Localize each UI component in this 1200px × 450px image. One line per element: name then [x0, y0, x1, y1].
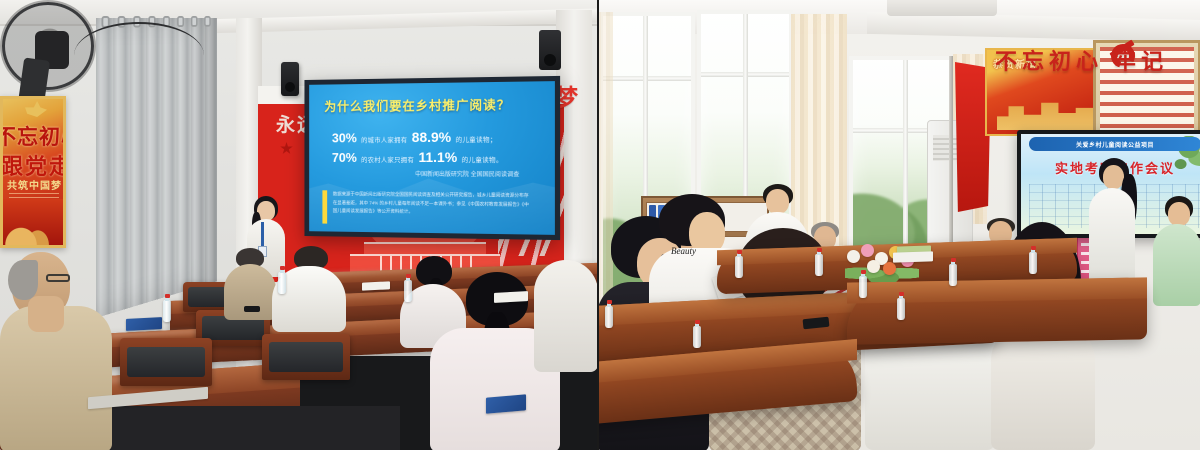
- water-bottle: [735, 256, 743, 278]
- wall-slogan: 不忘初心 牢记: [995, 44, 1168, 76]
- curtain-ring: [191, 16, 198, 27]
- photo-right-inspection-meeting: 恭贺新禧 不忘初心 牢记 关爱乡村儿童阅读公益项目 实地考察工作会议: [597, 0, 1200, 450]
- audience-person-right-edge: [534, 250, 597, 372]
- bottle-cap: [899, 292, 904, 296]
- slide-stat2-value: 11.1%: [418, 149, 457, 165]
- slide-stat2-pct: 70%: [332, 150, 357, 165]
- star-icon: [280, 142, 293, 155]
- flower: [867, 260, 880, 273]
- papers: [494, 291, 528, 303]
- window-mullion: [903, 56, 908, 256]
- bottle-cap: [695, 320, 700, 324]
- person-hair: [8, 260, 38, 300]
- person-torso: [1153, 224, 1200, 306]
- bottle-cap: [1031, 246, 1036, 250]
- wall-speaker-left: [281, 62, 299, 96]
- seated-person-mint-blouse: [1153, 196, 1200, 306]
- person-torso: [1089, 188, 1135, 292]
- bottle-cap: [861, 270, 866, 274]
- audience-person-foreground-bald-man: [0, 252, 120, 450]
- poster-illustration: [997, 96, 1093, 130]
- curtain-ring: [204, 16, 211, 27]
- bottle-cap: [165, 294, 170, 298]
- water-bottle: [897, 298, 905, 320]
- water-bottle: [859, 276, 867, 298]
- poster-line3: 共筑中国梦: [7, 177, 62, 192]
- person-head: [1168, 202, 1190, 226]
- slide-footnote: 数据来源于中国新闻出版研究院全国国民阅读调查及相关公开研究报告，城乡儿童阅读资源…: [322, 190, 532, 226]
- slide-stat-row-1: 30% 的城市人家拥有 88.9% 的儿童读物；: [332, 129, 497, 148]
- water-bottle: [163, 300, 171, 322]
- water-bottle: [949, 264, 957, 286]
- chair-pad: [127, 347, 204, 378]
- bottle-cap: [951, 258, 956, 262]
- water-bottle: [404, 280, 412, 302]
- conference-table-right-wing: [847, 277, 1147, 344]
- tv-header-banner: 关爱乡村儿童阅读公益项目: [1029, 137, 1200, 151]
- party-emblem-icon: [1105, 40, 1139, 74]
- slide-title: 为什么我们要在乡村推广阅读？: [324, 94, 544, 115]
- water-bottle: [1029, 252, 1037, 274]
- bottle-cap: [607, 300, 612, 304]
- papers: [362, 281, 390, 290]
- wall-speaker-right: [539, 30, 561, 70]
- chair-pad: [269, 342, 343, 371]
- slide-stat1-value: 88.9%: [412, 129, 451, 145]
- poster-line1: 不忘初心: [0, 121, 66, 151]
- water-bottle: [815, 254, 823, 276]
- blue-notebook: [126, 317, 162, 331]
- slide-surface: 为什么我们要在乡村推广阅读？ 30% 的城市人家拥有 88.9% 的儿童读物； …: [309, 81, 555, 235]
- slide-stat1-mid: 的城市人家拥有: [361, 137, 407, 144]
- photo-left-training-session: 不忘初心 跟党走 共筑中国梦 永远跟党走 中国梦: [0, 0, 597, 450]
- presenter-lanyard: [261, 222, 264, 248]
- curtain-ring: [177, 16, 184, 27]
- photo-seam-divider: [597, 0, 599, 450]
- person-torso: [534, 260, 597, 372]
- bottle-cap: [280, 266, 285, 270]
- bottle-cap: [406, 274, 411, 278]
- projector-screen: 为什么我们要在乡村推广阅读？ 30% 的城市人家拥有 88.9% 的儿童读物； …: [304, 76, 560, 240]
- slide-stat2-mid: 的农村人家只拥有: [361, 157, 414, 164]
- slide-stat2-tail: 的儿童读物。: [462, 157, 503, 164]
- slide-stat1-tail: 的儿童读物；: [456, 137, 497, 144]
- water-bottle: [605, 306, 613, 328]
- papers: [893, 251, 933, 262]
- floor-dark: [100, 406, 400, 450]
- flower: [861, 244, 874, 257]
- flower: [847, 250, 860, 263]
- eyeglasses-icon: [46, 274, 70, 282]
- ceiling-air-conditioner: [887, 0, 997, 16]
- flower: [883, 262, 896, 275]
- poster-figures: [3, 199, 63, 245]
- person-torso: [991, 326, 1095, 450]
- standing-presenter: [1089, 158, 1137, 294]
- mobile-phone: [244, 306, 260, 312]
- water-bottle: [693, 326, 701, 348]
- bottle-cap: [737, 250, 742, 254]
- slide-stat1-pct: 30%: [332, 130, 357, 145]
- chair-back: [120, 338, 212, 386]
- person-clasped-hands: [28, 296, 64, 332]
- poster-emblem-icon: [25, 101, 47, 117]
- two-photo-composite: 不忘初心 跟党走 共筑中国梦 永远跟党走 中国梦: [0, 0, 1200, 450]
- chair-back: [262, 334, 350, 380]
- slide-stat-row-2: 70% 的农村人家只拥有 11.1% 的儿童读物。: [332, 149, 503, 167]
- person-head: [766, 189, 789, 214]
- slide-source: 中国新闻出版研究院 全国国民阅读调查: [415, 169, 519, 178]
- water-bottle: [278, 272, 286, 294]
- party-poster-left: 不忘初心 跟党走 共筑中国梦: [0, 96, 66, 248]
- bottle-cap: [817, 248, 822, 252]
